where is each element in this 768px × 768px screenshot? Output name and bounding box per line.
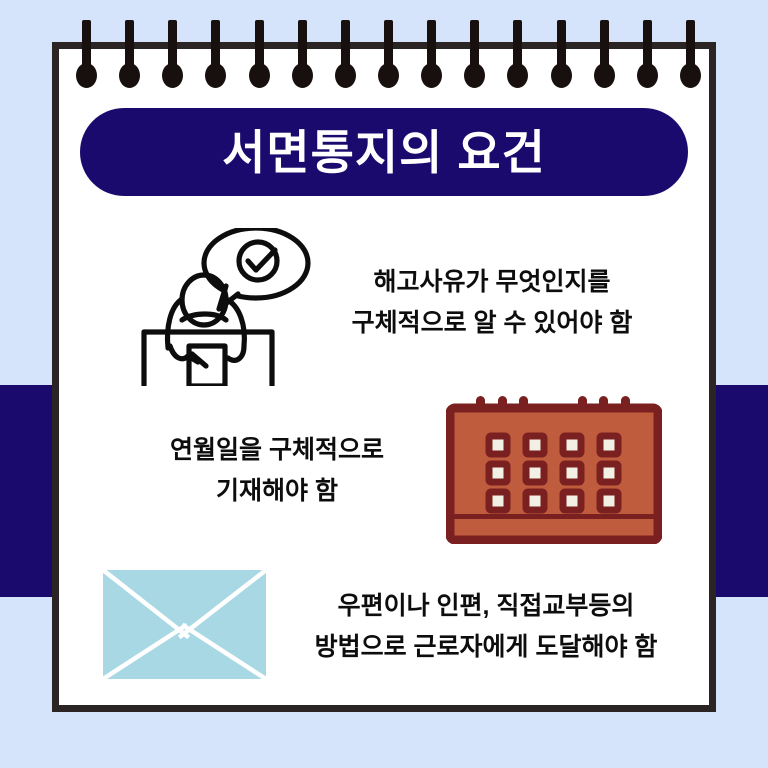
writing-person-icon [134,228,316,386]
infographic-canvas: 서면통지의 요건 [0,0,768,768]
row-1-line-1: 해고사유가 무엇인지를 [306,262,678,303]
row-2-line-1: 연월일을 구체적으로 [112,430,442,471]
calendar-icon [446,396,662,544]
envelope-icon [103,570,266,679]
page-title: 서면통지의 요건 [222,129,546,176]
row-2-line-2: 기재해야 함 [112,471,442,512]
row-2-text: 연월일을 구체적으로 기재해야 함 [112,430,442,511]
row-3-text: 우편이나 인편, 직접교부등의 방법으로 근로자에게 도달해야 함 [280,586,692,667]
row-3-line-1: 우편이나 인편, 직접교부등의 [280,586,692,627]
row-1-line-2: 구체적으로 알 수 있어야 함 [306,303,678,344]
row-3-line-2: 방법으로 근로자에게 도달해야 함 [280,627,692,668]
row-1-text: 해고사유가 무엇인지를 구체적으로 알 수 있어야 함 [306,262,678,343]
title-pill: 서면통지의 요건 [80,108,688,196]
